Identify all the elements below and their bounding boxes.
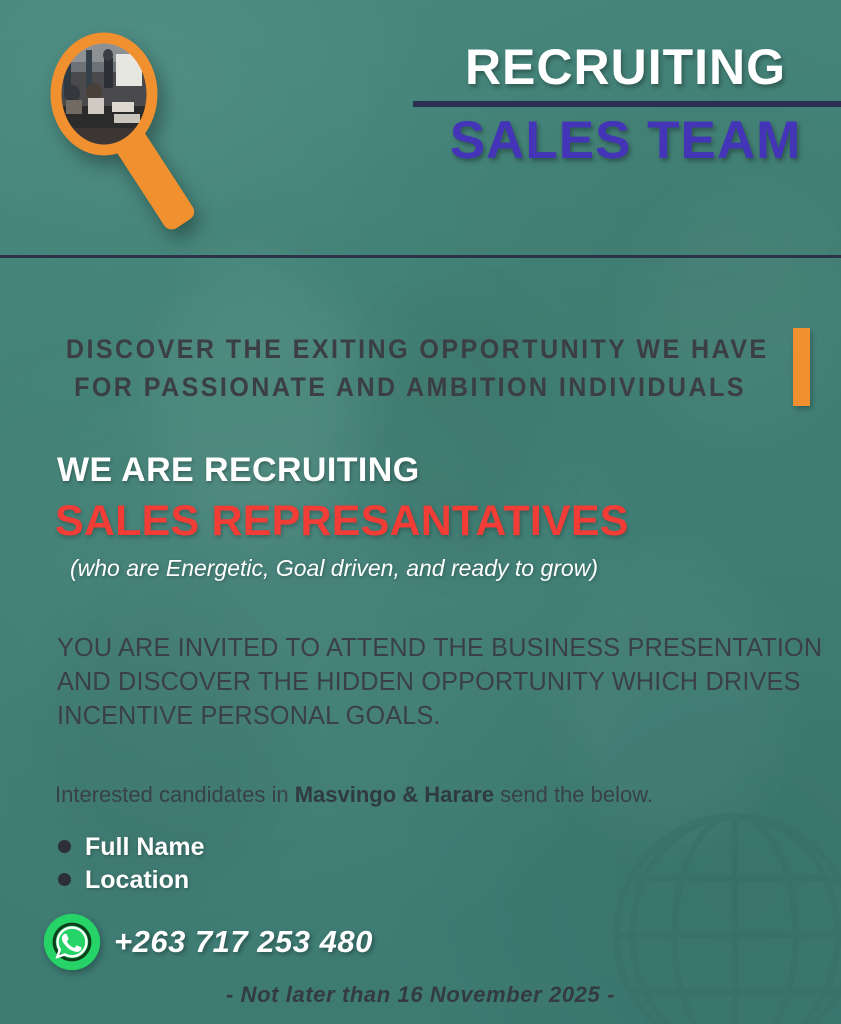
page-title-recruiting: RECRUITING	[410, 38, 841, 96]
tagline-line-2: FOR PASSIONATE AND AMBITION INDIVIDUALS	[66, 368, 754, 406]
invitation-line-3: INCENTIVE PERSONAL GOALS.	[57, 698, 823, 732]
candidates-instruction: Interested candidates in Masvingo & Hara…	[55, 780, 653, 810]
deadline-text: - Not later than 16 November 2025 -	[0, 980, 841, 1010]
bullet-icon	[58, 873, 71, 886]
poster-header: RECRUITING SALES TEAM	[0, 0, 841, 257]
bullet-icon	[58, 840, 71, 853]
recruitment-poster: RECRUITING SALES TEAM DISCOVER THE EXITI…	[0, 0, 841, 1024]
recruiting-heading: WE ARE RECRUITING	[57, 450, 420, 490]
requirement-label: Location	[85, 865, 189, 895]
list-item: Full Name	[58, 830, 204, 863]
magnifying-glass-icon	[42, 32, 232, 232]
role-subtitle: (who are Energetic, Goal driven, and rea…	[70, 553, 598, 583]
tagline: DISCOVER THE EXITING OPPORTUNITY WE HAVE…	[66, 330, 754, 406]
tagline-line-1: DISCOVER THE EXITING OPPORTUNITY WE HAVE	[66, 330, 754, 368]
candidates-suffix: send the below.	[494, 782, 653, 807]
requirements-list: Full Name Location	[58, 830, 204, 896]
header-title-group: RECRUITING	[410, 38, 841, 96]
header-title-rule	[413, 101, 841, 107]
contact-row[interactable]: +263 717 253 480	[42, 912, 373, 972]
requirement-label: Full Name	[85, 832, 204, 862]
whatsapp-icon[interactable]	[42, 912, 102, 972]
page-title-sales-team: SALES TEAM	[410, 110, 841, 172]
list-item: Location	[58, 863, 204, 896]
role-title: SALES REPRESANTATIVES	[55, 495, 629, 547]
phone-number[interactable]: +263 717 253 480	[114, 923, 373, 961]
invitation-paragraph: YOU ARE INVITED TO ATTEND THE BUSINESS P…	[57, 630, 823, 732]
candidates-prefix: Interested candidates in	[55, 782, 295, 807]
invitation-line-1: YOU ARE INVITED TO ATTEND THE BUSINESS P…	[57, 630, 823, 664]
header-divider	[0, 255, 841, 258]
orange-accent-bar	[793, 328, 810, 406]
invitation-line-2: AND DISCOVER THE HIDDEN OPPORTUNITY WHIC…	[57, 664, 823, 698]
candidates-locations: Masvingo & Harare	[295, 782, 494, 807]
